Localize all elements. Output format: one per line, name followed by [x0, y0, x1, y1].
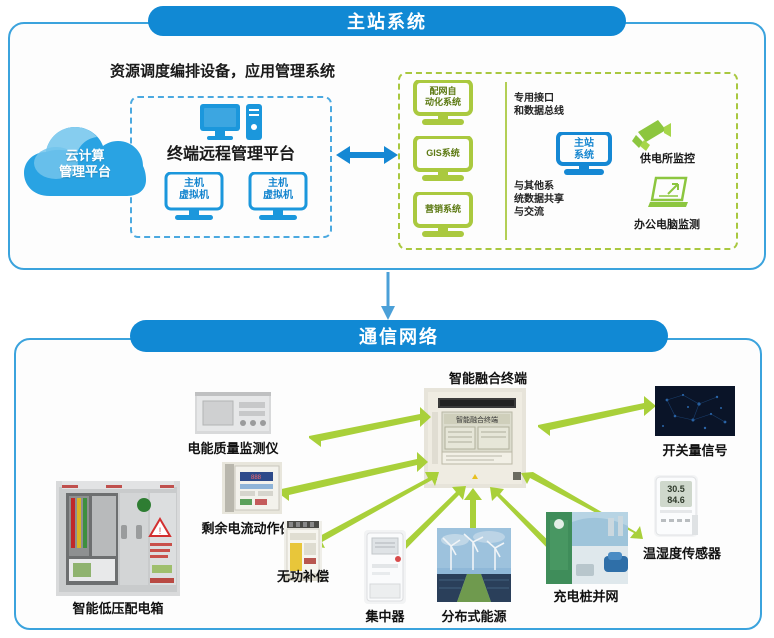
node-master-station[interactable]: 主站 系统 — [556, 132, 612, 178]
security-camera-icon — [628, 118, 672, 152]
device-ev-charging-pile[interactable] — [546, 512, 628, 584]
residual-current-protector-icon: 888 — [222, 462, 282, 514]
data-sharing-text: 与其他系 统数据共享 与交流 — [514, 180, 564, 219]
gnode3-line1: 营销系统 — [414, 204, 472, 215]
gnode1-line2: 动化系统 — [414, 97, 472, 108]
virtual-machine-1-label: 主机 虚拟机 — [163, 178, 225, 202]
device-temp-humidity-sensor[interactable]: 30.5 84.6 — [650, 475, 704, 539]
temperature-humidity-sensor-icon: 30.5 84.6 — [650, 475, 704, 539]
device-smart-fusion-terminal[interactable]: 智能融合终端 — [424, 388, 526, 488]
desktop-computer-icon — [198, 103, 264, 141]
distributed-energy-icon — [437, 528, 511, 602]
vm2-line1: 主机 — [247, 178, 309, 190]
platform-title: 终端远程管理平台 — [130, 140, 332, 164]
power-quality-analyzer-icon — [195, 392, 271, 434]
node-marketing-system[interactable]: 营销系统 — [412, 192, 474, 242]
vm2-line2: 虚拟机 — [247, 190, 309, 202]
svg-text:!: ! — [159, 526, 162, 536]
platform-to-systems-arrow — [336, 143, 398, 167]
node-gis-system-label: GIS系统 — [414, 148, 472, 159]
label-temp-humidity-sensor: 温湿度传感器 — [624, 543, 740, 562]
node-master-station-label: 主站 系统 — [556, 138, 612, 162]
virtual-machine-2[interactable]: 主机 虚拟机 — [247, 172, 309, 224]
monitor-icon — [412, 136, 474, 186]
digital-signal-icon — [655, 386, 735, 436]
banner-master-station: 主站系统 — [148, 6, 626, 36]
interface-bus-text: 专用接口 和数据总线 — [514, 92, 564, 118]
label-ev-charging-pile: 充电桩并网 — [528, 586, 644, 605]
sensor-humidity-value: 84.6 — [667, 495, 685, 505]
label-digital-signal: 开关量信号 — [650, 440, 740, 459]
device-digital-signal[interactable] — [655, 386, 735, 436]
distribution-cabinet-icon: ! — [56, 481, 180, 596]
svg-text:智能融合终端: 智能融合终端 — [456, 415, 498, 424]
mnode-line1: 主站 — [556, 138, 612, 150]
node-gis-system[interactable]: GIS系统 — [412, 136, 474, 186]
sensor-temperature-value: 30.5 — [667, 484, 685, 494]
label-office-pc-monitoring: 办公电脑监测 — [634, 216, 700, 232]
banner-communication-network: 通信网络 — [130, 320, 668, 352]
label-distribution-cabinet: 智能低压配电箱 — [56, 598, 180, 617]
node-distribution-automation[interactable]: 配网自 动化系统 — [412, 80, 474, 130]
ev-charging-pile-icon — [546, 512, 628, 584]
monitor-icon — [412, 192, 474, 242]
label-smart-fusion-terminal: 智能融合终端 — [393, 368, 583, 387]
label-distributed-energy: 分布式能源 — [424, 606, 524, 625]
device-residual-current-protector[interactable]: 888 — [222, 462, 282, 514]
label-substation-monitoring: 供电所监控 — [640, 150, 695, 166]
device-distribution-cabinet[interactable]: ! — [56, 481, 180, 596]
gnode2-line1: GIS系统 — [414, 148, 472, 159]
section-connector-arrow — [381, 272, 395, 320]
label-power-quality-analyzer: 电能质量监测仪 — [168, 438, 298, 457]
mnode-line2: 系统 — [556, 150, 612, 162]
label-concentrator: 集中器 — [340, 606, 430, 625]
label-reactive-power-compensation: 无功补偿 — [253, 566, 353, 585]
svg-text:888: 888 — [251, 475, 262, 481]
vm1-line1: 主机 — [163, 178, 225, 190]
laptop-icon — [648, 176, 690, 210]
smart-fusion-terminal-icon: 智能融合终端 — [424, 388, 526, 488]
device-distributed-energy[interactable] — [437, 528, 511, 602]
node-marketing-system-label: 营销系统 — [414, 204, 472, 215]
gnode1-line1: 配网自 — [414, 86, 472, 97]
vm1-line2: 虚拟机 — [163, 190, 225, 202]
data-concentrator-icon — [362, 530, 408, 604]
virtual-machine-1[interactable]: 主机 虚拟机 — [163, 172, 225, 224]
bus-divider-line — [505, 82, 507, 240]
device-power-quality-analyzer[interactable] — [195, 392, 271, 434]
top-section-title: 资源调度编排设备，应用管理系统 — [110, 60, 335, 81]
virtual-machine-2-label: 主机 虚拟机 — [247, 178, 309, 202]
bidirectional-arrow-icon — [336, 143, 398, 167]
diagram-canvas: 主站系统 资源调度编排设备，应用管理系统 云计算 管理平台 终端远程管理平台 — [0, 0, 774, 638]
node-distribution-automation-label: 配网自 动化系统 — [414, 86, 472, 108]
device-concentrator[interactable] — [362, 530, 408, 604]
